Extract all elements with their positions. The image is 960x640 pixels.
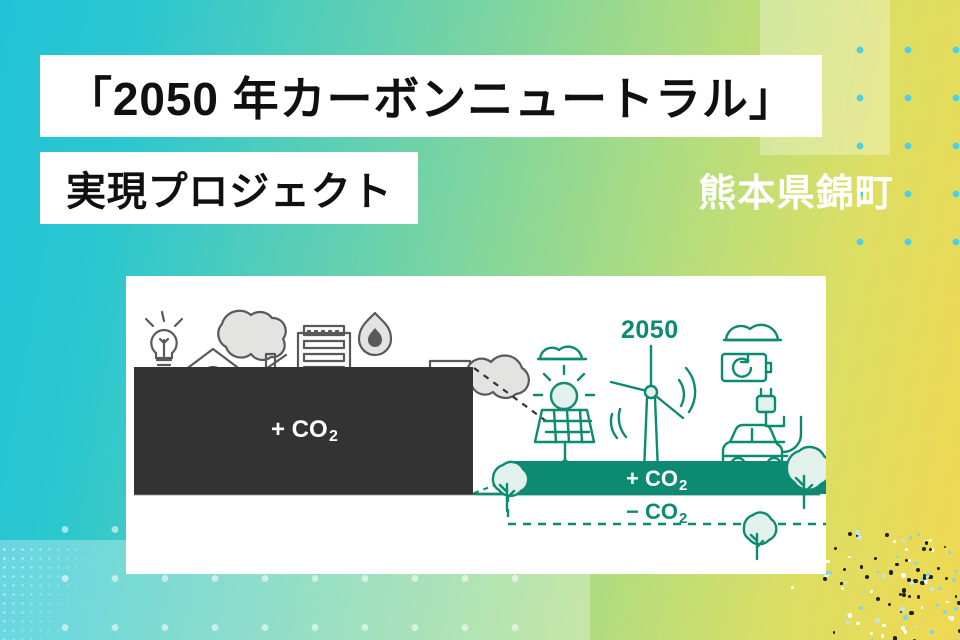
confetti-dot bbox=[922, 547, 926, 551]
confetti-dot bbox=[909, 536, 913, 540]
confetti-dot bbox=[848, 613, 853, 618]
confetti-dot bbox=[950, 616, 955, 621]
confetti-dot bbox=[930, 587, 934, 591]
confetti-dot bbox=[870, 632, 873, 635]
confetti-dot bbox=[875, 618, 880, 623]
confetti-dot bbox=[926, 576, 929, 579]
confetti-dot bbox=[908, 559, 912, 563]
present-scene: + CO 2 bbox=[134, 311, 529, 494]
title-bar-secondary: 実現プロジェクト bbox=[40, 152, 418, 224]
confetti-dot bbox=[826, 560, 830, 564]
confetti-dot bbox=[908, 595, 911, 598]
tree-2-icon bbox=[787, 447, 826, 508]
confetti-dot bbox=[901, 539, 905, 543]
tree-icon bbox=[493, 462, 528, 511]
confetti-dot bbox=[870, 590, 873, 593]
confetti-dot bbox=[865, 575, 869, 579]
confetti-dot bbox=[895, 563, 899, 567]
confetti-dot bbox=[914, 626, 917, 629]
confetti-dot bbox=[855, 530, 860, 535]
illustration-card: .gs{fill:none;stroke:#58595b;stroke-widt… bbox=[126, 276, 826, 574]
confetti-dot bbox=[840, 582, 843, 585]
confetti-dot bbox=[841, 587, 844, 590]
confetti-dot bbox=[882, 624, 886, 628]
confetti-dot bbox=[834, 547, 837, 550]
region-label: 熊本県錦町 bbox=[698, 162, 894, 217]
confetti-dot bbox=[862, 591, 865, 594]
present-block-label-sub: 2 bbox=[329, 428, 338, 445]
confetti-dot bbox=[901, 573, 906, 578]
confetti-dot bbox=[905, 548, 908, 551]
confetti-dot bbox=[896, 556, 899, 559]
page-title-line2: 実現プロジェクト bbox=[66, 159, 392, 217]
confetti-dot bbox=[902, 588, 906, 592]
confetti-dot bbox=[848, 532, 852, 536]
confetti-dot bbox=[876, 597, 880, 601]
future-absorb-label: − CO bbox=[626, 499, 678, 524]
confetti-dot bbox=[944, 546, 947, 549]
confetti-dot bbox=[856, 622, 860, 626]
confetti-dot bbox=[925, 541, 928, 544]
confetti-dot bbox=[917, 595, 920, 598]
confetti-dot bbox=[859, 606, 863, 610]
confetti-dot bbox=[948, 551, 951, 554]
confetti-dot bbox=[888, 603, 892, 607]
flame-icon bbox=[359, 313, 391, 355]
confetti-dot bbox=[905, 559, 908, 562]
cloud-icon bbox=[538, 347, 586, 359]
confetti-dot bbox=[903, 615, 908, 620]
confetti-dot bbox=[833, 631, 836, 634]
title-bar-primary: 「2050 年カーボンニュートラル」 bbox=[40, 55, 822, 137]
future-absorb-label-sub: 2 bbox=[679, 510, 687, 527]
confetti-dot bbox=[843, 568, 846, 571]
future-scene: 2050 bbox=[493, 316, 826, 559]
confetti-dot bbox=[881, 574, 885, 578]
confetti-dot bbox=[936, 604, 939, 607]
confetti-dot bbox=[874, 557, 877, 560]
confetti-dot bbox=[902, 593, 906, 597]
confetti-dot bbox=[914, 562, 917, 565]
confetti-dot bbox=[909, 611, 914, 616]
confetti-dot bbox=[845, 581, 848, 584]
confetti-dot bbox=[893, 540, 896, 543]
confetti-dot bbox=[860, 565, 864, 569]
confetti-dot bbox=[943, 610, 947, 614]
confetti-dot bbox=[937, 567, 941, 571]
page-title-line1: 「2050 年カーボンニュートラル」 bbox=[66, 63, 796, 129]
confetti-dot bbox=[929, 539, 932, 542]
present-block-label: + CO bbox=[271, 416, 328, 443]
confetti-dot bbox=[938, 587, 942, 591]
future-emit-label-sub: 2 bbox=[679, 477, 687, 494]
confetti-dot bbox=[929, 630, 933, 634]
confetti-dot bbox=[916, 568, 920, 572]
confetti-dot bbox=[885, 533, 889, 537]
smoke-cloud-icon bbox=[218, 311, 285, 360]
confetti-dot bbox=[945, 577, 948, 580]
tree-3-icon bbox=[744, 512, 776, 559]
confetti-dot bbox=[889, 570, 894, 575]
confetti-dot bbox=[823, 577, 827, 581]
confetti-dot bbox=[848, 556, 851, 559]
confetti-dot bbox=[954, 607, 958, 611]
smoke-cloud-2-icon bbox=[466, 355, 529, 397]
confetti-dot bbox=[921, 606, 924, 609]
confetti-dot bbox=[910, 581, 914, 585]
confetti-dot bbox=[893, 636, 898, 640]
confetti-dot bbox=[791, 586, 794, 589]
cloud-2-icon bbox=[724, 325, 781, 340]
confetti-dot bbox=[954, 570, 957, 573]
wind-turbine-icon bbox=[611, 346, 695, 472]
confetti-dot bbox=[857, 536, 862, 541]
lightbulb-icon bbox=[146, 312, 182, 370]
poster-canvas: 「2050 年カーボンニュートラル」 実現プロジェクト 熊本県錦町 .gs{fi… bbox=[0, 0, 960, 640]
confetti-dot bbox=[924, 580, 928, 584]
year-label: 2050 bbox=[621, 316, 679, 344]
confetti-dot bbox=[881, 634, 884, 637]
confetti-dot bbox=[929, 548, 932, 551]
future-emit-label: + CO bbox=[626, 466, 678, 491]
carbon-neutral-illustration: .gs{fill:none;stroke:#58595b;stroke-widt… bbox=[126, 276, 826, 574]
confetti-dot bbox=[876, 571, 879, 574]
confetti-dot bbox=[952, 578, 956, 582]
confetti-dot bbox=[917, 533, 920, 536]
confetti-dot bbox=[846, 621, 849, 624]
confetti-dot bbox=[955, 595, 958, 598]
halftone-texture-bottom-left bbox=[0, 545, 120, 640]
confetti-dot bbox=[829, 571, 832, 574]
confetti-dot bbox=[946, 601, 949, 604]
battery-recharge-icon bbox=[722, 354, 771, 381]
